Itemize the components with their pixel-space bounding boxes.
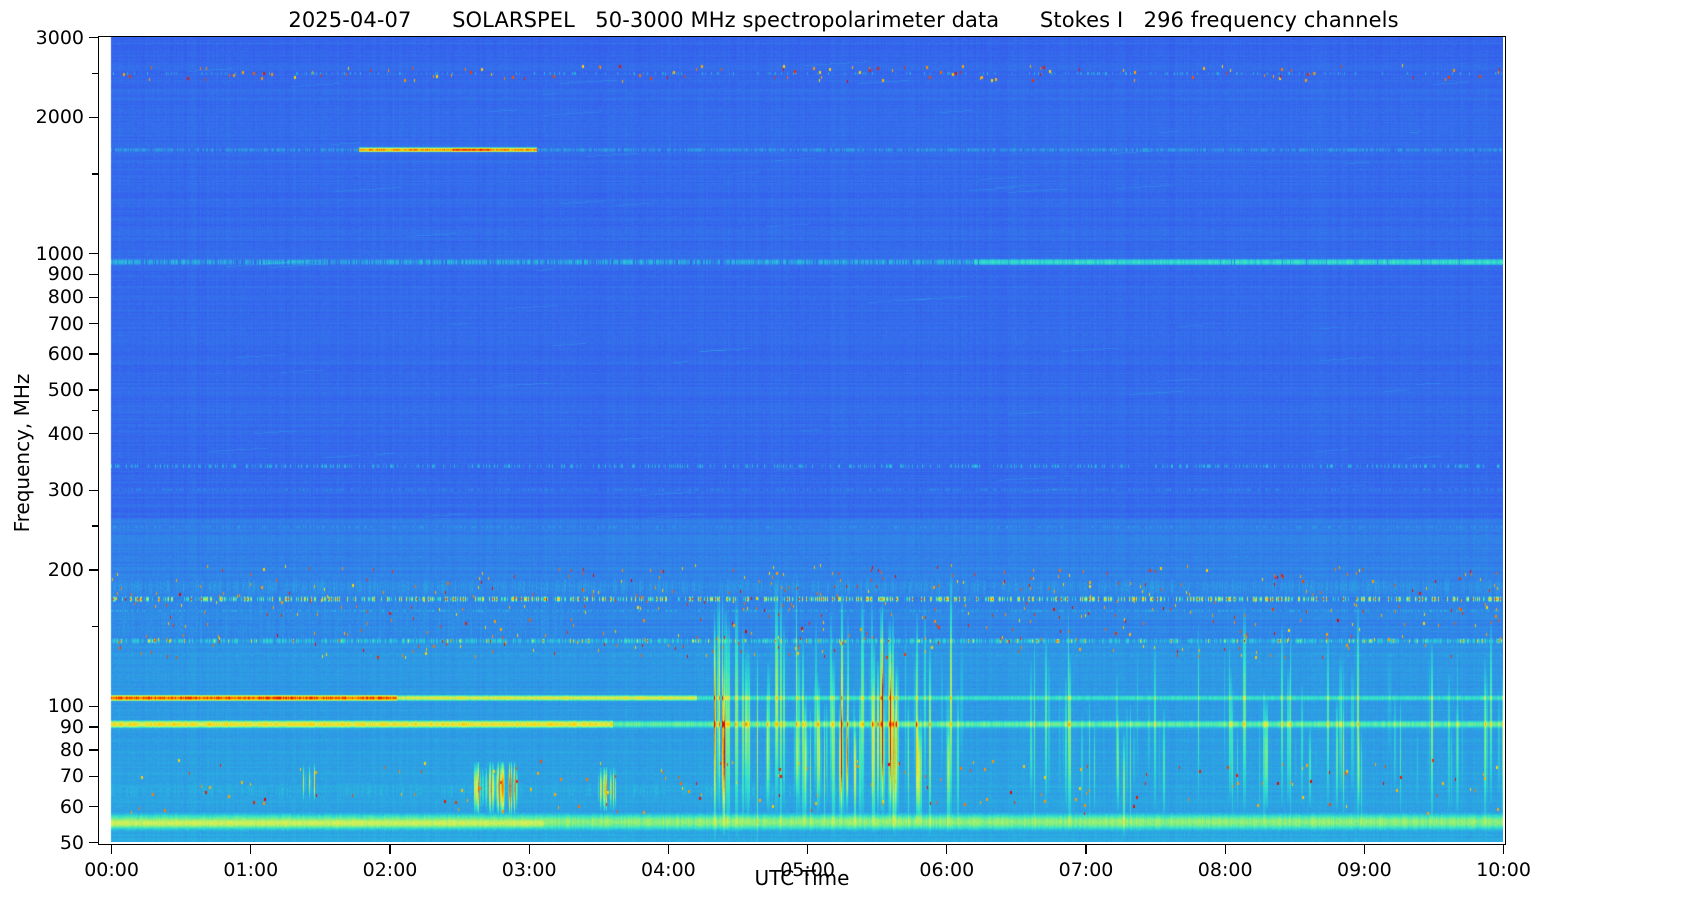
y-tick-label: 3000	[36, 27, 84, 49]
y-tick-label: 70	[60, 765, 84, 787]
y-tick-label: 200	[48, 559, 84, 581]
x-tick-mark	[111, 845, 112, 854]
y-tick-mark	[92, 626, 98, 627]
y-tick-mark	[89, 117, 98, 118]
y-tick-mark	[89, 776, 98, 777]
x-tick-mark	[1085, 845, 1086, 854]
y-tick-label: 2000	[36, 106, 84, 128]
y-tick-mark	[92, 73, 98, 74]
x-tick-mark	[529, 845, 530, 854]
y-tick-mark	[89, 569, 98, 570]
y-tick-mark	[89, 749, 98, 750]
y-tick-mark	[89, 806, 98, 807]
x-tick-mark	[1503, 845, 1504, 854]
y-tick-label: 700	[48, 313, 84, 335]
y-tick-mark	[89, 323, 98, 324]
y-tick-mark	[89, 706, 98, 707]
y-tick-label: 800	[48, 286, 84, 308]
x-tick-mark	[1364, 845, 1365, 854]
x-tick-mark	[807, 845, 808, 854]
plot-area[interactable]	[98, 36, 1506, 845]
y-tick-mark	[89, 353, 98, 354]
y-tick-mark	[92, 173, 98, 174]
x-tick-mark	[946, 845, 947, 854]
y-tick-label: 80	[60, 739, 84, 761]
y-axis-label: Frequency, MHz	[10, 53, 34, 853]
y-tick-label: 100	[48, 695, 84, 717]
y-tick-mark	[89, 389, 98, 390]
y-tick-mark	[89, 37, 98, 38]
y-tick-label: 1000	[36, 243, 84, 265]
y-tick-mark	[89, 726, 98, 727]
y-tick-label: 90	[60, 716, 84, 738]
spectrogram-heatmap[interactable]	[99, 37, 1503, 842]
y-tick-label: 500	[48, 379, 84, 401]
y-tick-label: 60	[60, 796, 84, 818]
y-tick-mark	[92, 525, 98, 526]
y-tick-mark	[92, 410, 98, 411]
spectrogram-figure: 2025-04-07 SOLARSPEL 50-3000 MHz spectro…	[0, 0, 1687, 906]
y-tick-mark	[89, 490, 98, 491]
x-tick-mark	[389, 845, 390, 854]
x-tick-mark	[668, 845, 669, 854]
y-tick-mark	[89, 274, 98, 275]
y-tick-mark	[89, 253, 98, 254]
x-tick-mark	[250, 845, 251, 854]
y-tick-mark	[89, 842, 98, 843]
y-tick-mark	[89, 297, 98, 298]
y-tick-label: 50	[60, 832, 84, 854]
y-tick-label: 600	[48, 343, 84, 365]
y-tick-label: 400	[48, 423, 84, 445]
x-tick-mark	[1225, 845, 1226, 854]
figure-title: 2025-04-07 SOLARSPEL 50-3000 MHz spectro…	[0, 8, 1687, 32]
y-axis-label-wrapper: Frequency, MHz	[0, 0, 40, 906]
x-axis-label: UTC Time	[98, 866, 1506, 890]
y-tick-label: 300	[48, 479, 84, 501]
y-tick-mark	[89, 433, 98, 434]
y-tick-label: 900	[48, 263, 84, 285]
